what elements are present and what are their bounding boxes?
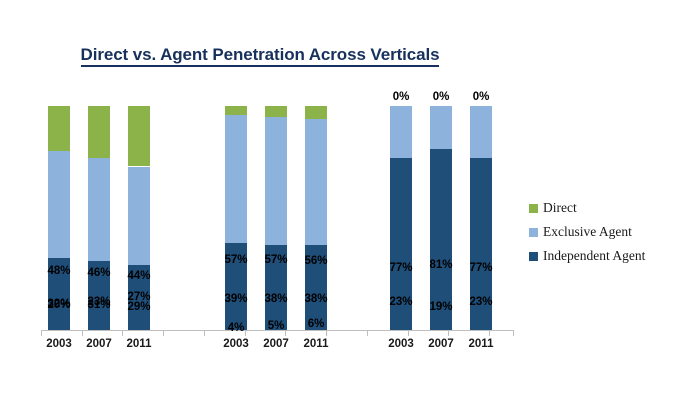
legend-item[interactable]: Direct <box>529 196 674 220</box>
stacked-bar[interactable] <box>390 106 412 330</box>
bar-segment-independent-agent[interactable] <box>48 258 70 330</box>
bar-segment-direct[interactable] <box>265 106 287 117</box>
bar-segment-independent-agent[interactable] <box>390 158 412 330</box>
plot-area: 32%48%20%200331%46%23%200729%44%27%20113… <box>0 0 520 403</box>
x-axis-tick <box>82 330 83 336</box>
x-axis-tick <box>122 330 123 336</box>
x-axis-tick <box>367 330 368 336</box>
bar-segment-independent-agent[interactable] <box>128 265 150 330</box>
x-axis-category-label: 2011 <box>293 338 339 350</box>
legend-label: Exclusive Agent <box>543 224 632 240</box>
bar-segment-exclusive-agent[interactable] <box>265 117 287 245</box>
x-axis-tick <box>204 330 205 336</box>
bar-segment-exclusive-agent[interactable] <box>48 151 70 259</box>
bar-value-label: 0% <box>473 91 490 103</box>
bar-segment-independent-agent[interactable] <box>225 243 247 330</box>
legend-swatch-icon <box>529 204 538 213</box>
bar-segment-independent-agent[interactable] <box>470 158 492 330</box>
x-axis-tick <box>163 330 164 336</box>
bar-segment-exclusive-agent[interactable] <box>128 167 150 266</box>
stacked-bar[interactable] <box>305 106 327 330</box>
chart-container: Direct vs. Agent Penetration Across Vert… <box>0 0 680 403</box>
bar-segment-independent-agent[interactable] <box>88 261 110 330</box>
bar-segment-independent-agent[interactable] <box>265 245 287 330</box>
x-axis-tick <box>489 330 490 336</box>
stacked-bar[interactable] <box>225 106 247 330</box>
bar-segment-direct[interactable] <box>225 106 247 115</box>
bar-value-label: 0% <box>393 91 410 103</box>
bar-segment-independent-agent[interactable] <box>430 149 452 330</box>
legend-swatch-icon <box>529 252 538 261</box>
legend-label: Independent Agent <box>543 248 645 264</box>
bar-segment-direct[interactable] <box>128 106 150 166</box>
x-axis-category-label: 2011 <box>116 338 162 350</box>
stacked-bar[interactable] <box>470 106 492 330</box>
x-axis-tick <box>41 330 42 336</box>
bar-segment-independent-agent[interactable] <box>305 245 327 330</box>
x-axis-category-label: 2011 <box>458 338 504 350</box>
x-axis-tick <box>326 330 327 336</box>
x-axis-tick <box>513 330 514 336</box>
chart-legend: DirectExclusive AgentIndependent Agent <box>529 196 674 268</box>
bar-segment-exclusive-agent[interactable] <box>470 106 492 158</box>
x-axis-tick <box>408 330 409 336</box>
stacked-bar[interactable] <box>430 106 452 330</box>
bar-segment-exclusive-agent[interactable] <box>88 158 110 261</box>
x-axis-tick <box>245 330 246 336</box>
bar-segment-exclusive-agent[interactable] <box>390 106 412 158</box>
bar-segment-exclusive-agent[interactable] <box>225 115 247 243</box>
bar-segment-exclusive-agent[interactable] <box>305 119 327 244</box>
stacked-bar[interactable] <box>88 106 110 330</box>
stacked-bar[interactable] <box>128 106 150 330</box>
legend-item[interactable]: Independent Agent <box>529 244 674 268</box>
bar-segment-exclusive-agent[interactable] <box>430 106 452 149</box>
bar-segment-direct[interactable] <box>305 106 327 119</box>
bar-value-label: 0% <box>433 91 450 103</box>
legend-item[interactable]: Exclusive Agent <box>529 220 674 244</box>
legend-swatch-icon <box>529 228 538 237</box>
stacked-bar[interactable] <box>265 106 287 330</box>
x-axis-line <box>41 330 513 331</box>
x-axis-tick <box>285 330 286 336</box>
x-axis-tick <box>448 330 449 336</box>
bar-segment-direct[interactable] <box>48 106 70 151</box>
stacked-bar[interactable] <box>48 106 70 330</box>
bar-segment-direct[interactable] <box>88 106 110 158</box>
legend-label: Direct <box>543 200 577 216</box>
